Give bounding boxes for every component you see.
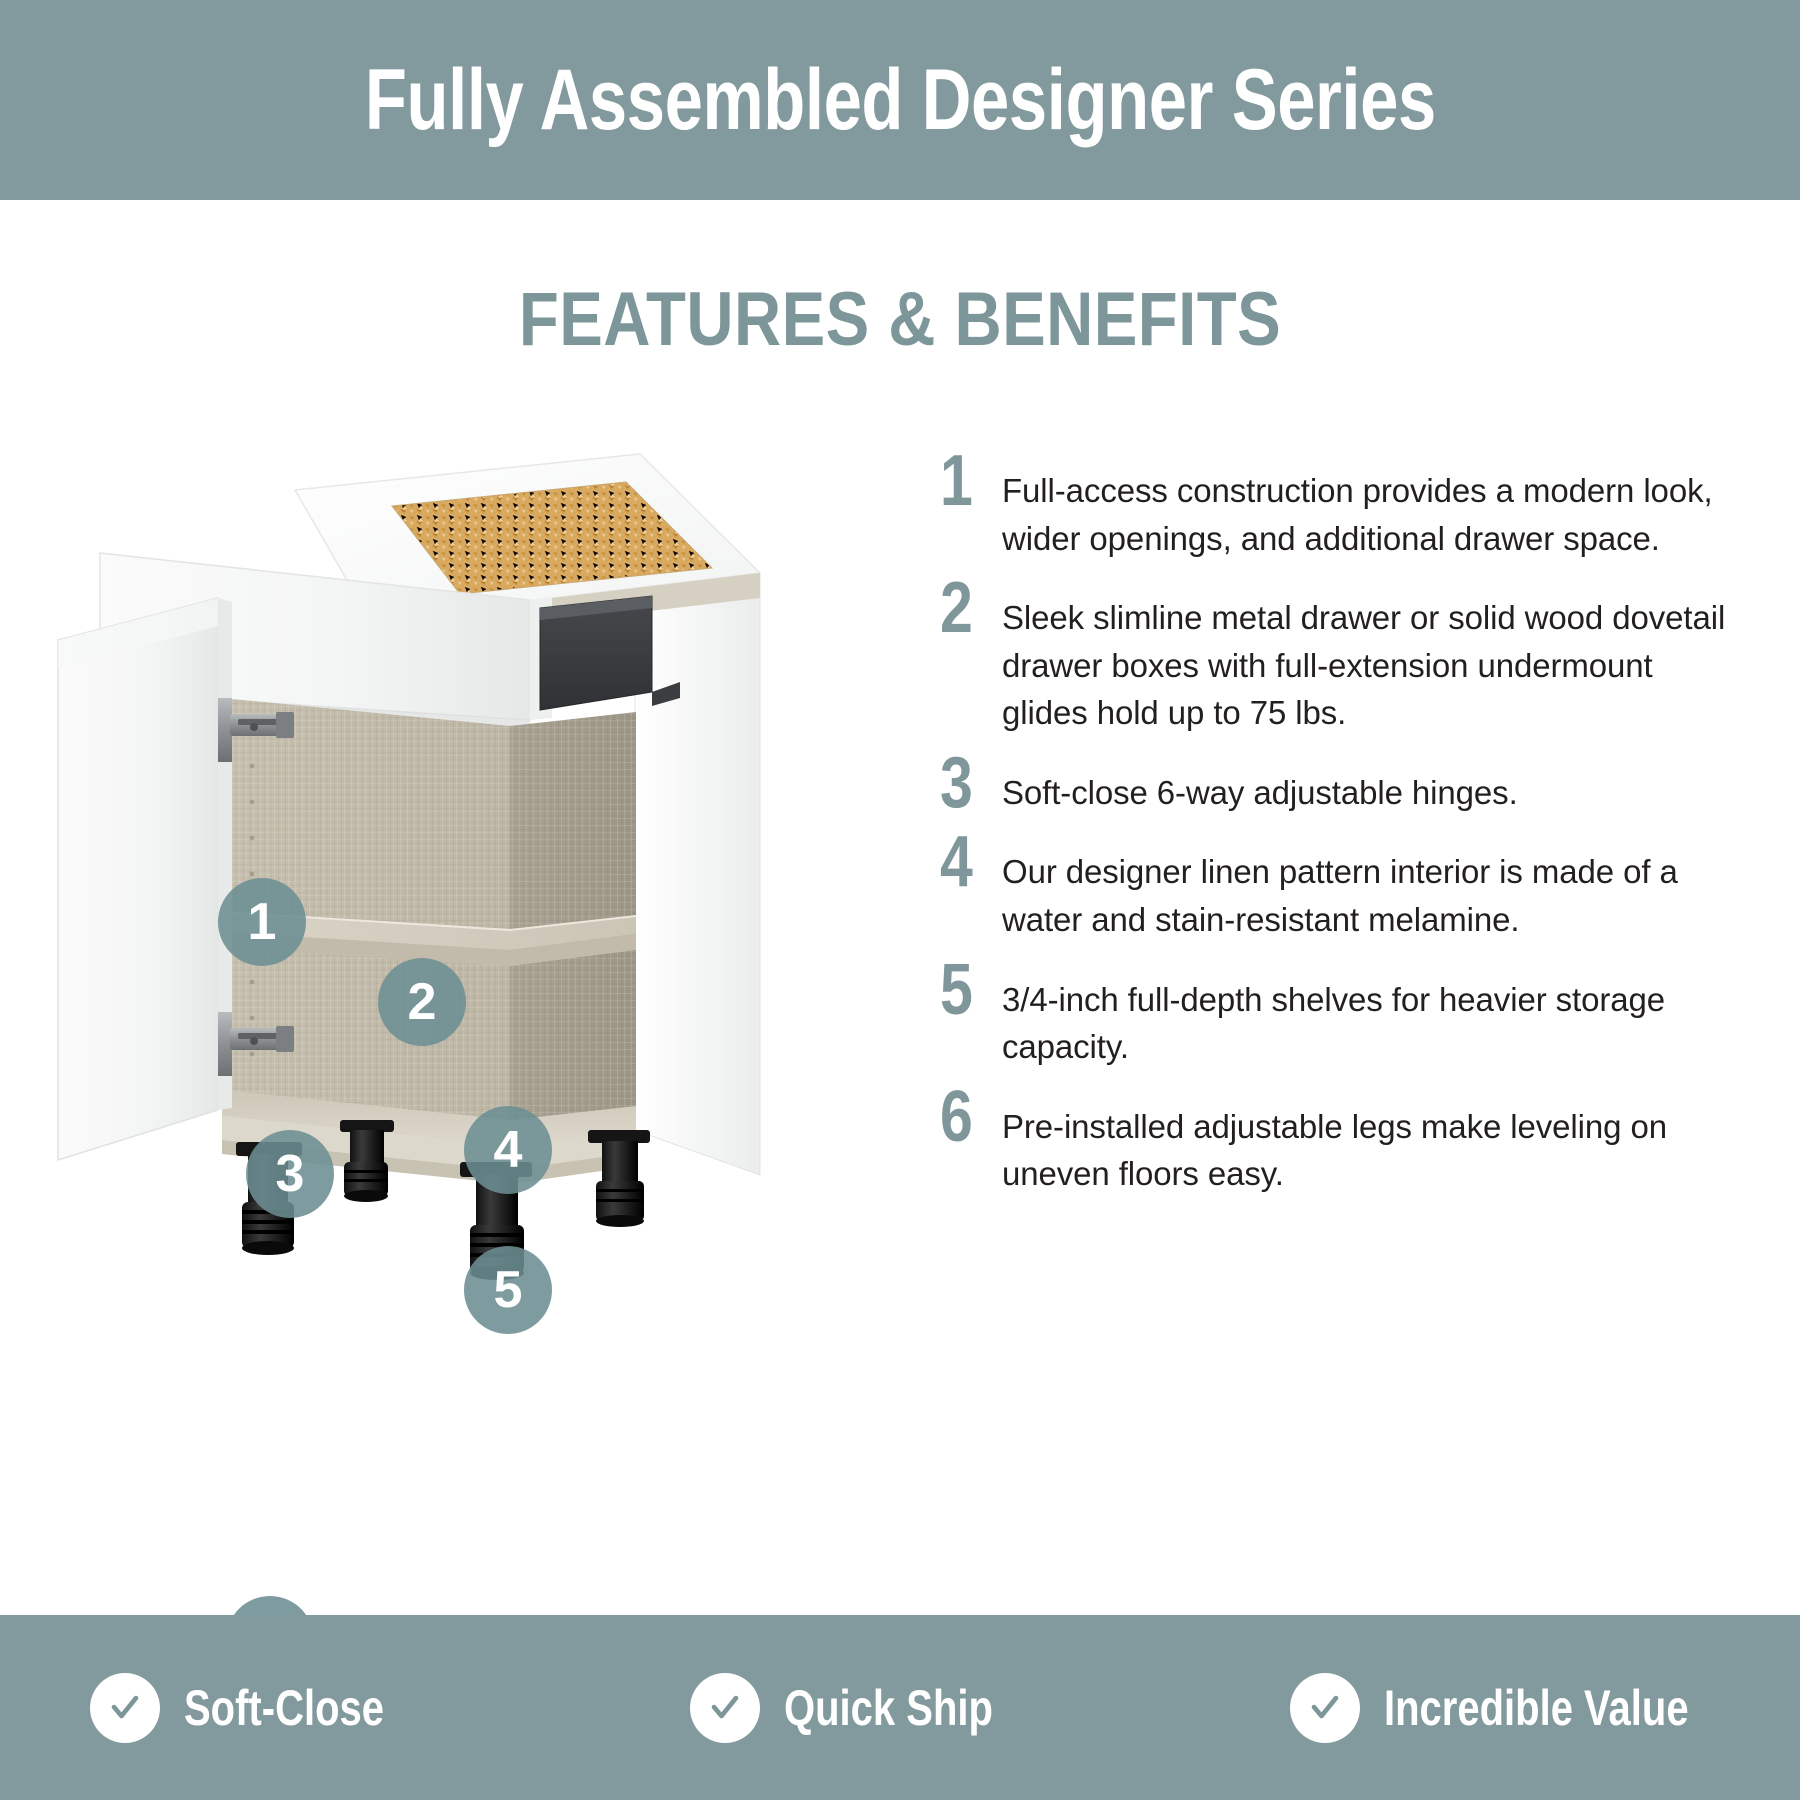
section-heading: FEATURES & BENEFITS (126, 280, 1674, 360)
footer-bar: Soft-Close Quick Ship Incredible Value (0, 1615, 1800, 1800)
footer-label-soft-close: Soft-Close (184, 1679, 384, 1737)
feature-item-1: 1 Full-access construction provides a mo… (940, 450, 1740, 563)
main-content: 1 2 3 4 5 6 1 Full-access construction p… (0, 420, 1800, 1600)
footer-item-quick-ship: Quick Ship (600, 1673, 1200, 1743)
feature-number-1: 1 (940, 452, 991, 511)
feature-number-2: 2 (940, 579, 991, 638)
callout-badge-3[interactable]: 3 (246, 1130, 334, 1218)
cabinet-right-side-panel (635, 530, 760, 1175)
footer-item-incredible-value: Incredible Value (1200, 1673, 1800, 1743)
cabinet-diagram-svg (40, 430, 880, 1330)
cabinet-door-open (58, 598, 232, 1160)
feature-item-6: 6 Pre-installed adjustable legs make lev… (940, 1086, 1740, 1199)
footer-item-soft-close: Soft-Close (0, 1673, 600, 1743)
feature-text-6: Pre-installed adjustable legs make level… (1002, 1086, 1729, 1199)
callout-badge-1[interactable]: 1 (218, 878, 306, 966)
check-circle-icon (1290, 1673, 1360, 1743)
feature-item-3: 3 Soft-close 6-way adjustable hinges. (940, 752, 1740, 818)
feature-number-4: 4 (940, 833, 991, 892)
feature-text-5: 3/4-inch full-depth shelves for heavier … (1002, 959, 1729, 1072)
feature-text-1: Full-access construction provides a mode… (1002, 450, 1729, 563)
cabinet-illustration: 1 2 3 4 5 6 (40, 430, 880, 1330)
feature-text-2: Sleek slimline metal drawer or solid woo… (1002, 577, 1729, 738)
callout-badge-4[interactable]: 4 (464, 1106, 552, 1194)
page-title: Fully Assembled Designer Series (365, 57, 1436, 143)
infographic-page: Fully Assembled Designer Series FEATURES… (0, 0, 1800, 1800)
check-circle-icon (90, 1673, 160, 1743)
feature-number-3: 3 (940, 754, 991, 813)
feature-item-2: 2 Sleek slimline metal drawer or solid w… (940, 577, 1740, 738)
feature-item-4: 4 Our designer linen pattern interior is… (940, 831, 1740, 944)
footer-label-quick-ship: Quick Ship (784, 1679, 993, 1737)
feature-item-5: 5 3/4-inch full-depth shelves for heavie… (940, 959, 1740, 1072)
footer-label-incredible-value: Incredible Value (1384, 1679, 1689, 1737)
callout-badge-5[interactable]: 5 (464, 1246, 552, 1334)
feature-text-3: Soft-close 6-way adjustable hinges. (1002, 752, 1729, 818)
callout-badge-2[interactable]: 2 (378, 958, 466, 1046)
feature-number-6: 6 (940, 1088, 991, 1147)
feature-number-5: 5 (940, 961, 991, 1020)
header-bar: Fully Assembled Designer Series (0, 0, 1800, 200)
check-circle-icon (690, 1673, 760, 1743)
features-list: 1 Full-access construction provides a mo… (940, 450, 1740, 1213)
feature-text-4: Our designer linen pattern interior is m… (1002, 831, 1729, 944)
